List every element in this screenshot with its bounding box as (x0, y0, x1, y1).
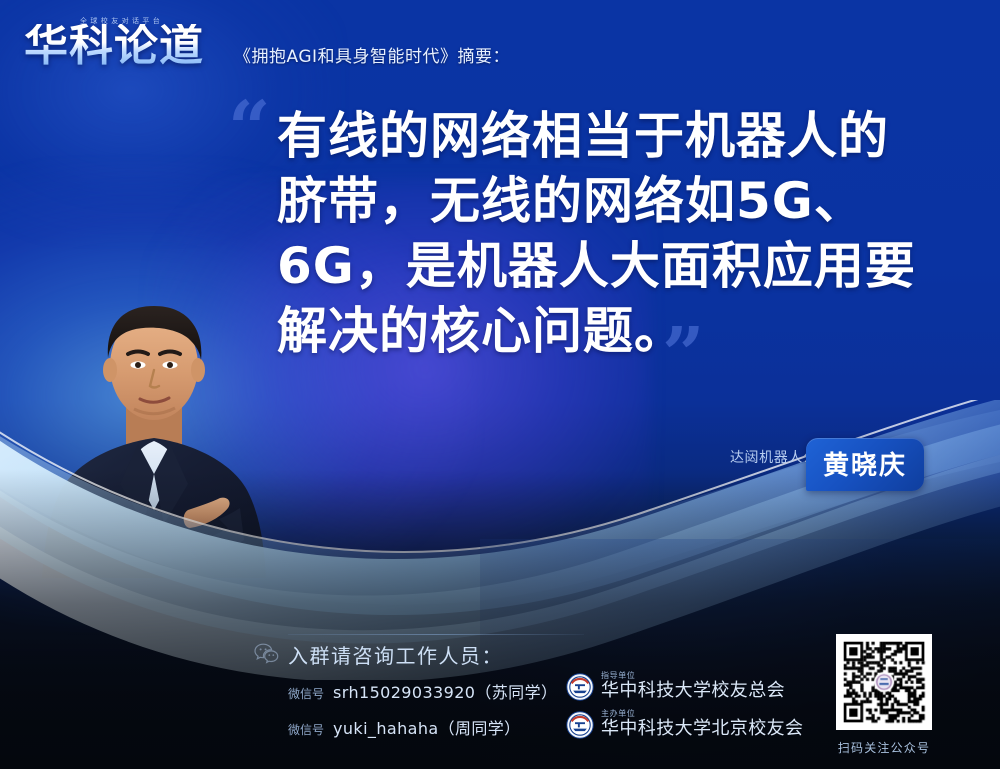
quote-line: 脐带，无线的网络如5G、 (277, 169, 937, 234)
qr-code-image (836, 634, 932, 730)
footer-divider (288, 634, 584, 635)
quote-line: 有线的网络相当于机器人的 (277, 104, 937, 169)
qr-code-caption: 扫码关注公众号 (836, 739, 932, 756)
contact-value: yuki_hahaha（周同学） (333, 715, 521, 739)
episode-subtitle: 《拥抱AGI和具身智能时代》摘要： (234, 42, 510, 76)
organization-row: 主办单位 华中科技大学北京校友会 (566, 710, 803, 739)
organization-name: 华中科技大学北京校友会 (601, 720, 803, 739)
quote-text: 有线的网络相当于机器人的 脐带，无线的网络如5G、 6G，是机器人大面积应用要 … (277, 104, 937, 364)
organization-kicker: 主办单位 (601, 710, 803, 718)
footer-heading: 入群请咨询工作人员： (288, 640, 503, 669)
hust-seal-icon (566, 673, 594, 701)
contact-row: 微信号 yuki_hahaha（周同学） (288, 715, 521, 739)
organization-text: 主办单位 华中科技大学北京校友会 (601, 710, 803, 739)
poster-header: 全球校友对话平台 华科论道 《拥抱AGI和具身智能时代》摘要： (24, 14, 510, 76)
wechat-icon (254, 643, 280, 665)
contact-row: 微信号 srh15029033920（苏同学） (288, 679, 557, 703)
quote-open-mark: “ (228, 92, 271, 166)
poster-root: 全球校友对话平台 华科论道 《拥抱AGI和具身智能时代》摘要： “ 有线的网络相… (0, 0, 1000, 769)
organization-name: 华中科技大学校友总会 (601, 682, 785, 701)
quote-close-mark: ” (662, 318, 705, 392)
organization-text: 指导单位 华中科技大学校友总会 (601, 672, 785, 701)
organization-kicker: 指导单位 (601, 672, 785, 680)
brand-logo: 全球校友对话平台 华科论道 (24, 14, 220, 76)
hust-seal-icon (566, 711, 594, 739)
qr-code-block: 扫码关注公众号 (836, 634, 932, 756)
brand-title: 华科论道 (24, 24, 204, 68)
contact-value: srh15029033920（苏同学） (333, 679, 557, 703)
quote-line: 解决的核心问题。 (277, 299, 937, 364)
contact-label: 微信号 (288, 685, 324, 702)
quote-line: 6G，是机器人大面积应用要 (277, 234, 937, 299)
contact-label: 微信号 (288, 721, 324, 738)
speaker-name-badge: 黄晓庆 (806, 438, 924, 491)
organization-row: 指导单位 华中科技大学校友总会 (566, 672, 785, 701)
